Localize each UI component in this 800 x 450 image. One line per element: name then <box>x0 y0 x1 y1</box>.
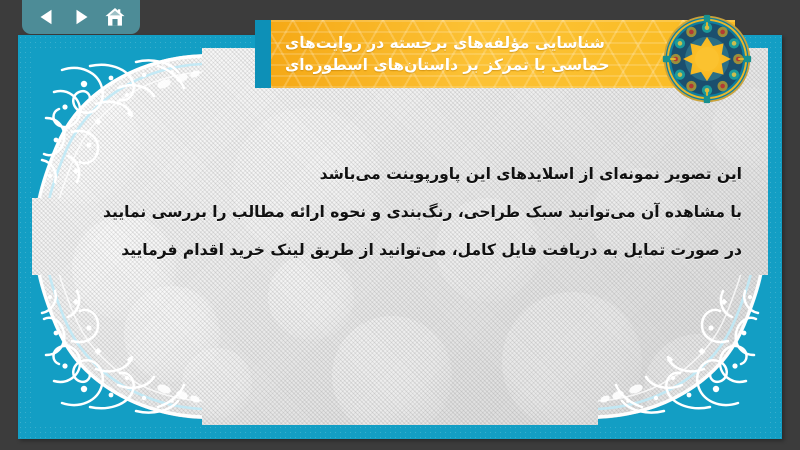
body-line-2: با مشاهده آن می‌توانید سبک طراحی، رنگ‌بن… <box>58 194 742 232</box>
slide-title-line-1: شناسایی مؤلفه‌های برجسته در روایت‌های <box>285 32 605 54</box>
navigation-bar <box>22 0 140 34</box>
islimi-corner-bottom-right-icon <box>598 275 768 425</box>
islimi-corner-bottom-left-icon <box>32 275 202 425</box>
home-button[interactable] <box>101 4 129 30</box>
title-banner-cap <box>255 20 271 88</box>
previous-slide-button[interactable] <box>33 4 61 30</box>
slide-content-panel: این تصویر نمونه‌ای از اسلایدهای این پاور… <box>32 48 768 425</box>
slide-viewer: این تصویر نمونه‌ای از اسلایدهای این پاور… <box>0 0 800 450</box>
body-line-1: این تصویر نمونه‌ای از اسلایدهای این پاور… <box>58 156 742 194</box>
triangle-right-icon <box>71 7 91 27</box>
slide-title-banner: شناسایی مؤلفه‌های برجسته در روایت‌های حم… <box>255 20 735 88</box>
home-icon <box>104 6 126 28</box>
persian-mandala-medallion-icon <box>661 13 753 105</box>
triangle-left-icon <box>37 7 57 27</box>
next-slide-button[interactable] <box>67 4 95 30</box>
slide-body-text: این تصویر نمونه‌ای از اسلایدهای این پاور… <box>58 156 742 270</box>
slide-title-line-2: حماسی با تمرکز بر داستان‌های اسطوره‌ای <box>285 54 610 76</box>
body-line-3: در صورت تمایل به دریافت فایل کامل، می‌تو… <box>58 232 742 270</box>
